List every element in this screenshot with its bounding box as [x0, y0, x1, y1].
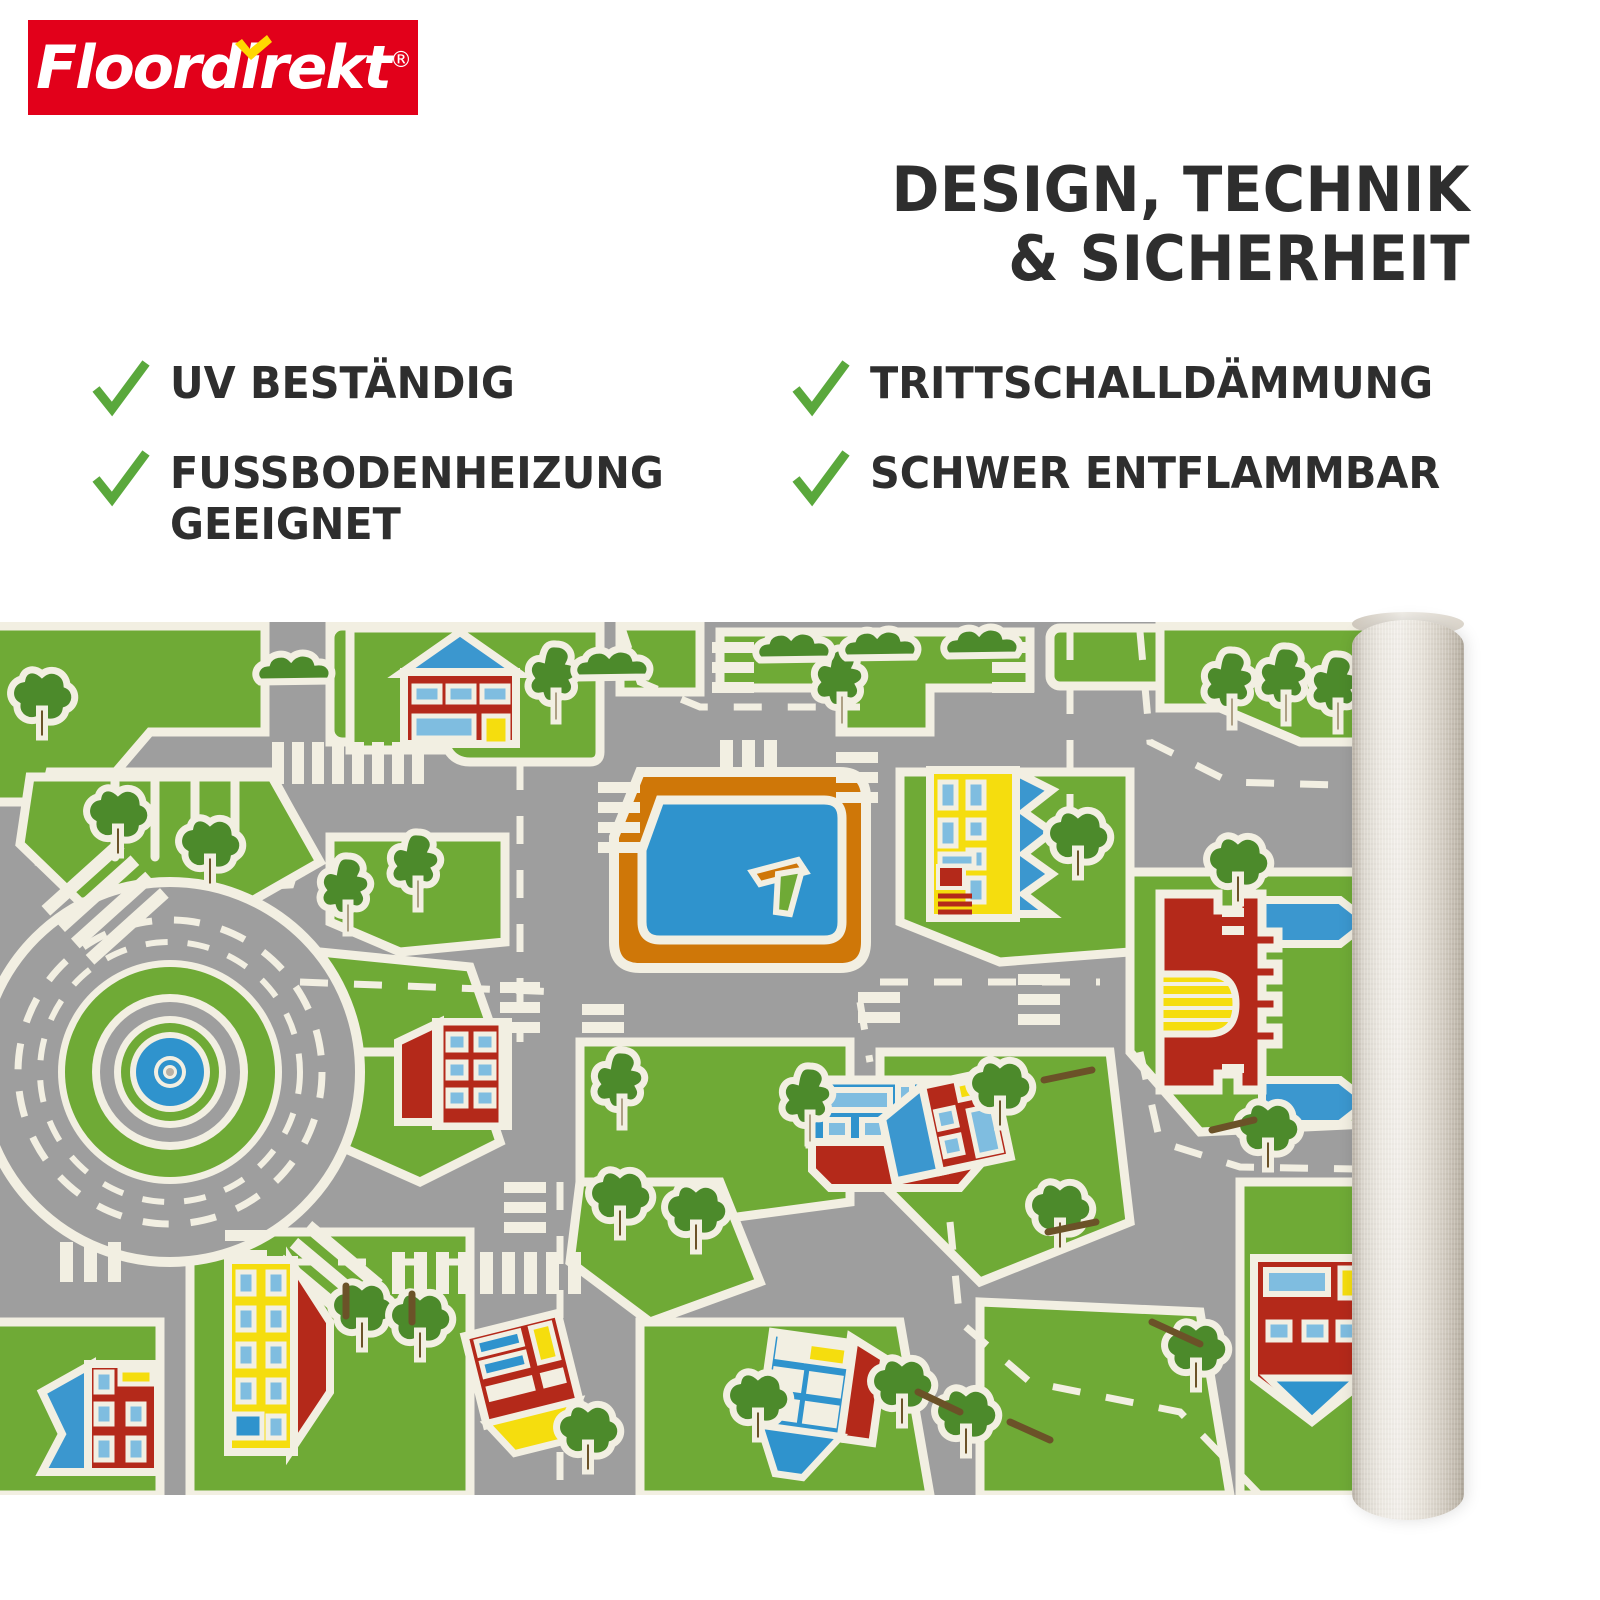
headline-line-2: & SICHERHEIT [892, 224, 1470, 293]
feature-label-schwer-entflammbar: SCHWER ENTFLAMMBAR [870, 445, 1440, 500]
check-icon [90, 447, 152, 509]
logo-registered-mark: ® [390, 48, 410, 73]
feature-label-trittschalldaemmung: TRITTSCHALLDÄMMUNG [870, 355, 1433, 410]
feature-label-uv-bestaendig: UV BESTÄNDIG [170, 355, 515, 410]
check-icon [790, 447, 852, 509]
feature-item-schwer-entflammbar: SCHWER ENTFLAMMBAR [790, 445, 1490, 550]
mat-roll-texture [1352, 620, 1464, 1520]
logo-brand-name: Floordirekt [36, 33, 390, 103]
feature-label-fussbodenheizung-geeignet: FUSSBODENHEIZUNG GEEIGNET [170, 445, 743, 550]
product-image-play-mat [0, 622, 1600, 1522]
feature-item-trittschalldaemmung: TRITTSCHALLDÄMMUNG [790, 355, 1490, 419]
feature-item-uv-bestaendig: UV BESTÄNDIG [90, 355, 780, 419]
check-accent-icon [233, 35, 273, 61]
feature-list: UV BESTÄNDIG TRITTSCHALLDÄMMUNG FUSSBODE… [90, 355, 1510, 550]
feature-item-fussbodenheizung-geeignet: FUSSBODENHEIZUNG GEEIGNET [90, 445, 780, 550]
check-icon [90, 357, 152, 419]
logo-wordmark: Floordirekt® [36, 33, 410, 103]
page-headline: DESIGN, TECHNIK & SICHERHEIT [892, 155, 1470, 294]
mat-roll [1352, 620, 1464, 1520]
check-icon [790, 357, 852, 419]
brand-logo: Floordirekt® [28, 20, 418, 115]
logo-wordmark-wrap: Floordirekt® [36, 38, 410, 98]
headline-line-1: DESIGN, TECHNIK [892, 155, 1470, 224]
